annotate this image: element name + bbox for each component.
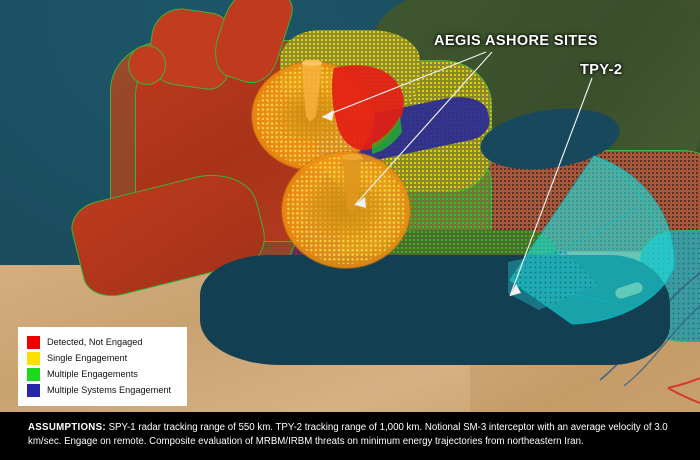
legend-swatch-yellow — [27, 352, 40, 365]
legend-swatch-green — [27, 368, 40, 381]
legend-swatch-red — [27, 336, 40, 349]
caption-bar: ASSUMPTIONS: SPY-1 radar tracking range … — [0, 412, 700, 460]
legend-item-multiple-systems-engagement: Multiple Systems Engagement — [27, 383, 179, 398]
legend-label: Single Engagement — [47, 353, 127, 364]
caption-lead: ASSUMPTIONS: — [28, 422, 106, 433]
figure-root: AEGIS ASHORE SITES TPY-2 Detected, Not E… — [0, 0, 700, 460]
legend-swatch-blue — [27, 384, 40, 397]
space-background: AEGIS ASHORE SITES TPY-2 Detected, Not E… — [0, 0, 700, 412]
label-aegis-ashore-sites: AEGIS ASHORE SITES — [434, 33, 598, 49]
legend-item-single-engagement: Single Engagement — [27, 351, 179, 366]
legend-label: Detected, Not Engaged — [47, 337, 143, 348]
caption-text-block: ASSUMPTIONS: SPY-1 radar tracking range … — [0, 412, 700, 448]
legend-label: Multiple Engagements — [47, 369, 138, 380]
legend-item-detected-not-engaged: Detected, Not Engaged — [27, 335, 179, 350]
caption-body: SPY-1 radar tracking range of 550 km. TP… — [28, 422, 668, 447]
legend-label: Multiple Systems Engagement — [47, 385, 171, 396]
label-tpy2: TPY-2 — [580, 62, 622, 78]
legend: Detected, Not Engaged Single Engagement … — [18, 327, 187, 406]
legend-item-multiple-engagements: Multiple Engagements — [27, 367, 179, 382]
